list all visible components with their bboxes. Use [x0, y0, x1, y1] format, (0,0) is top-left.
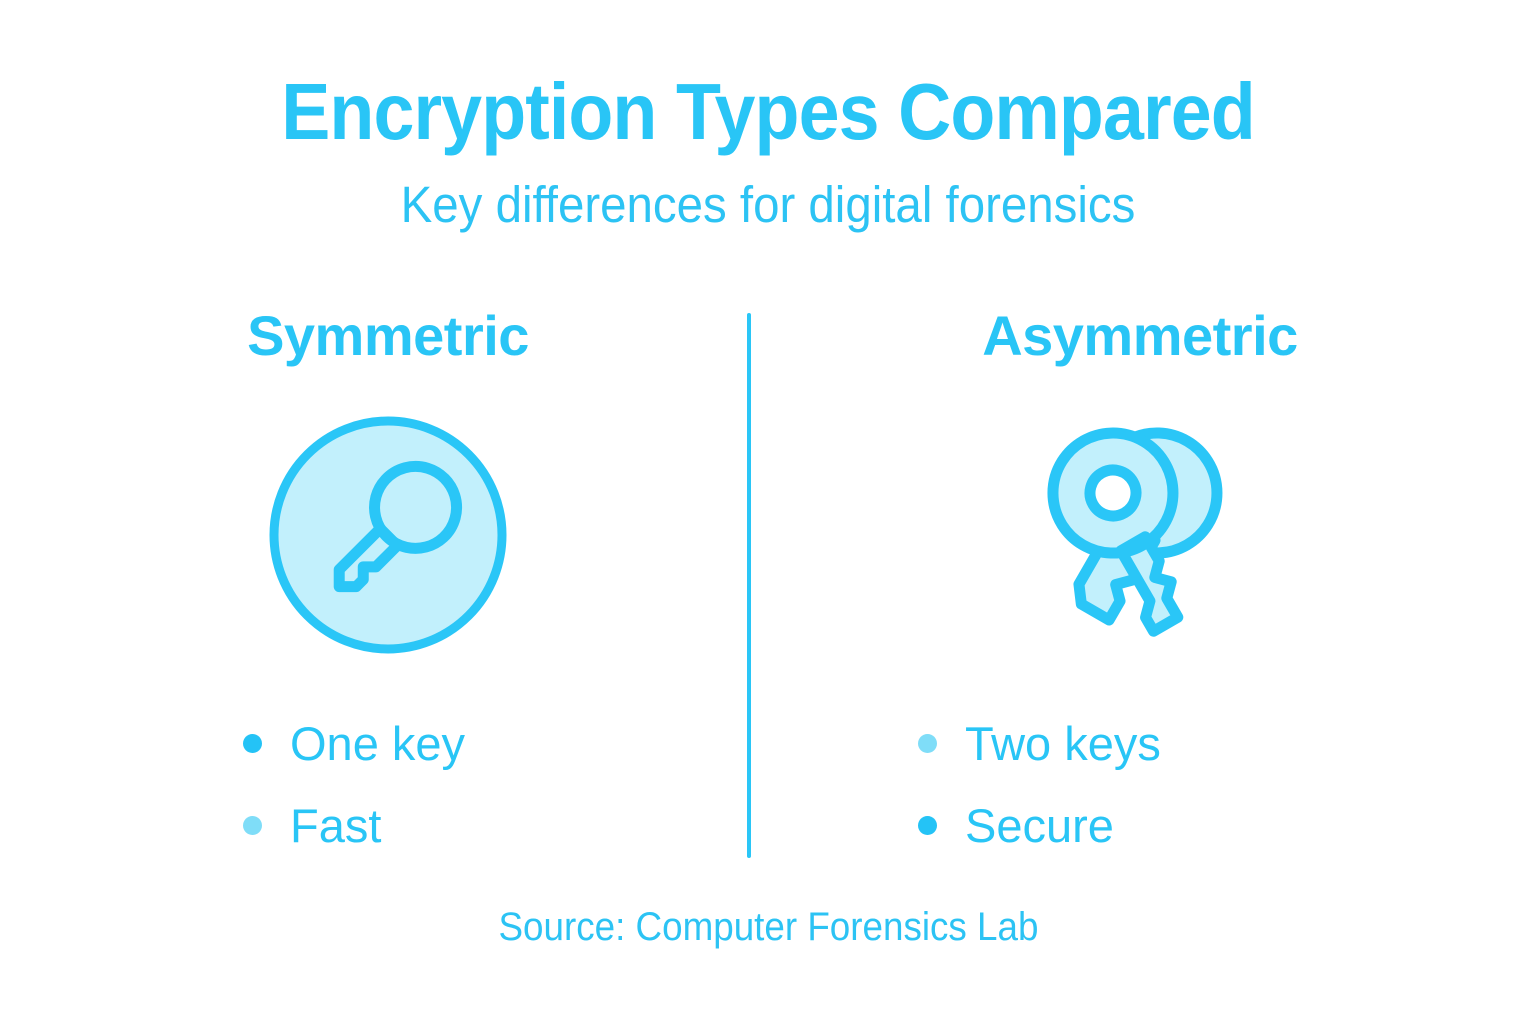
infographic-canvas: Encryption Types Compared Key difference… [0, 0, 1536, 1024]
column-heading-symmetric: Symmetric [38, 308, 738, 378]
bullet-dot-icon [918, 734, 937, 753]
bullet-label: Secure [965, 802, 1114, 849]
list-item: Fast [243, 784, 381, 866]
bullet-dot-icon [243, 816, 262, 835]
footer-block: Source: Computer Forensics Lab [0, 905, 1536, 950]
bullet-list-asymmetric: Two keys Secure [918, 702, 1338, 866]
single-key-in-circle-icon [265, 412, 511, 658]
page-title: Encryption Types Compared [61, 72, 1474, 152]
icon-wrap-symmetric [38, 410, 738, 660]
source-attribution: Source: Computer Forensics Lab [498, 905, 1038, 950]
list-item: Secure [918, 784, 1114, 866]
bullet-list-symmetric: One key Fast [243, 702, 663, 866]
header-block: Encryption Types Compared Key difference… [0, 72, 1536, 230]
icon-wrap-asymmetric [790, 410, 1490, 660]
column-divider [747, 313, 751, 858]
page-subtitle: Key differences for digital forensics [54, 179, 1482, 230]
bullet-dot-icon [243, 734, 262, 753]
list-item: Two keys [918, 702, 1161, 784]
bullet-label: Two keys [965, 720, 1161, 767]
bullet-dot-icon [918, 816, 937, 835]
list-item: One key [243, 702, 465, 784]
column-heading-asymmetric: Asymmetric [790, 308, 1490, 378]
bullet-label: Fast [290, 802, 381, 849]
bullet-label: One key [290, 720, 465, 767]
column-asymmetric: Asymmetric Two keys [790, 308, 1490, 882]
column-symmetric: Symmetric One key Fast [38, 308, 738, 882]
two-keys-icon [995, 415, 1285, 655]
